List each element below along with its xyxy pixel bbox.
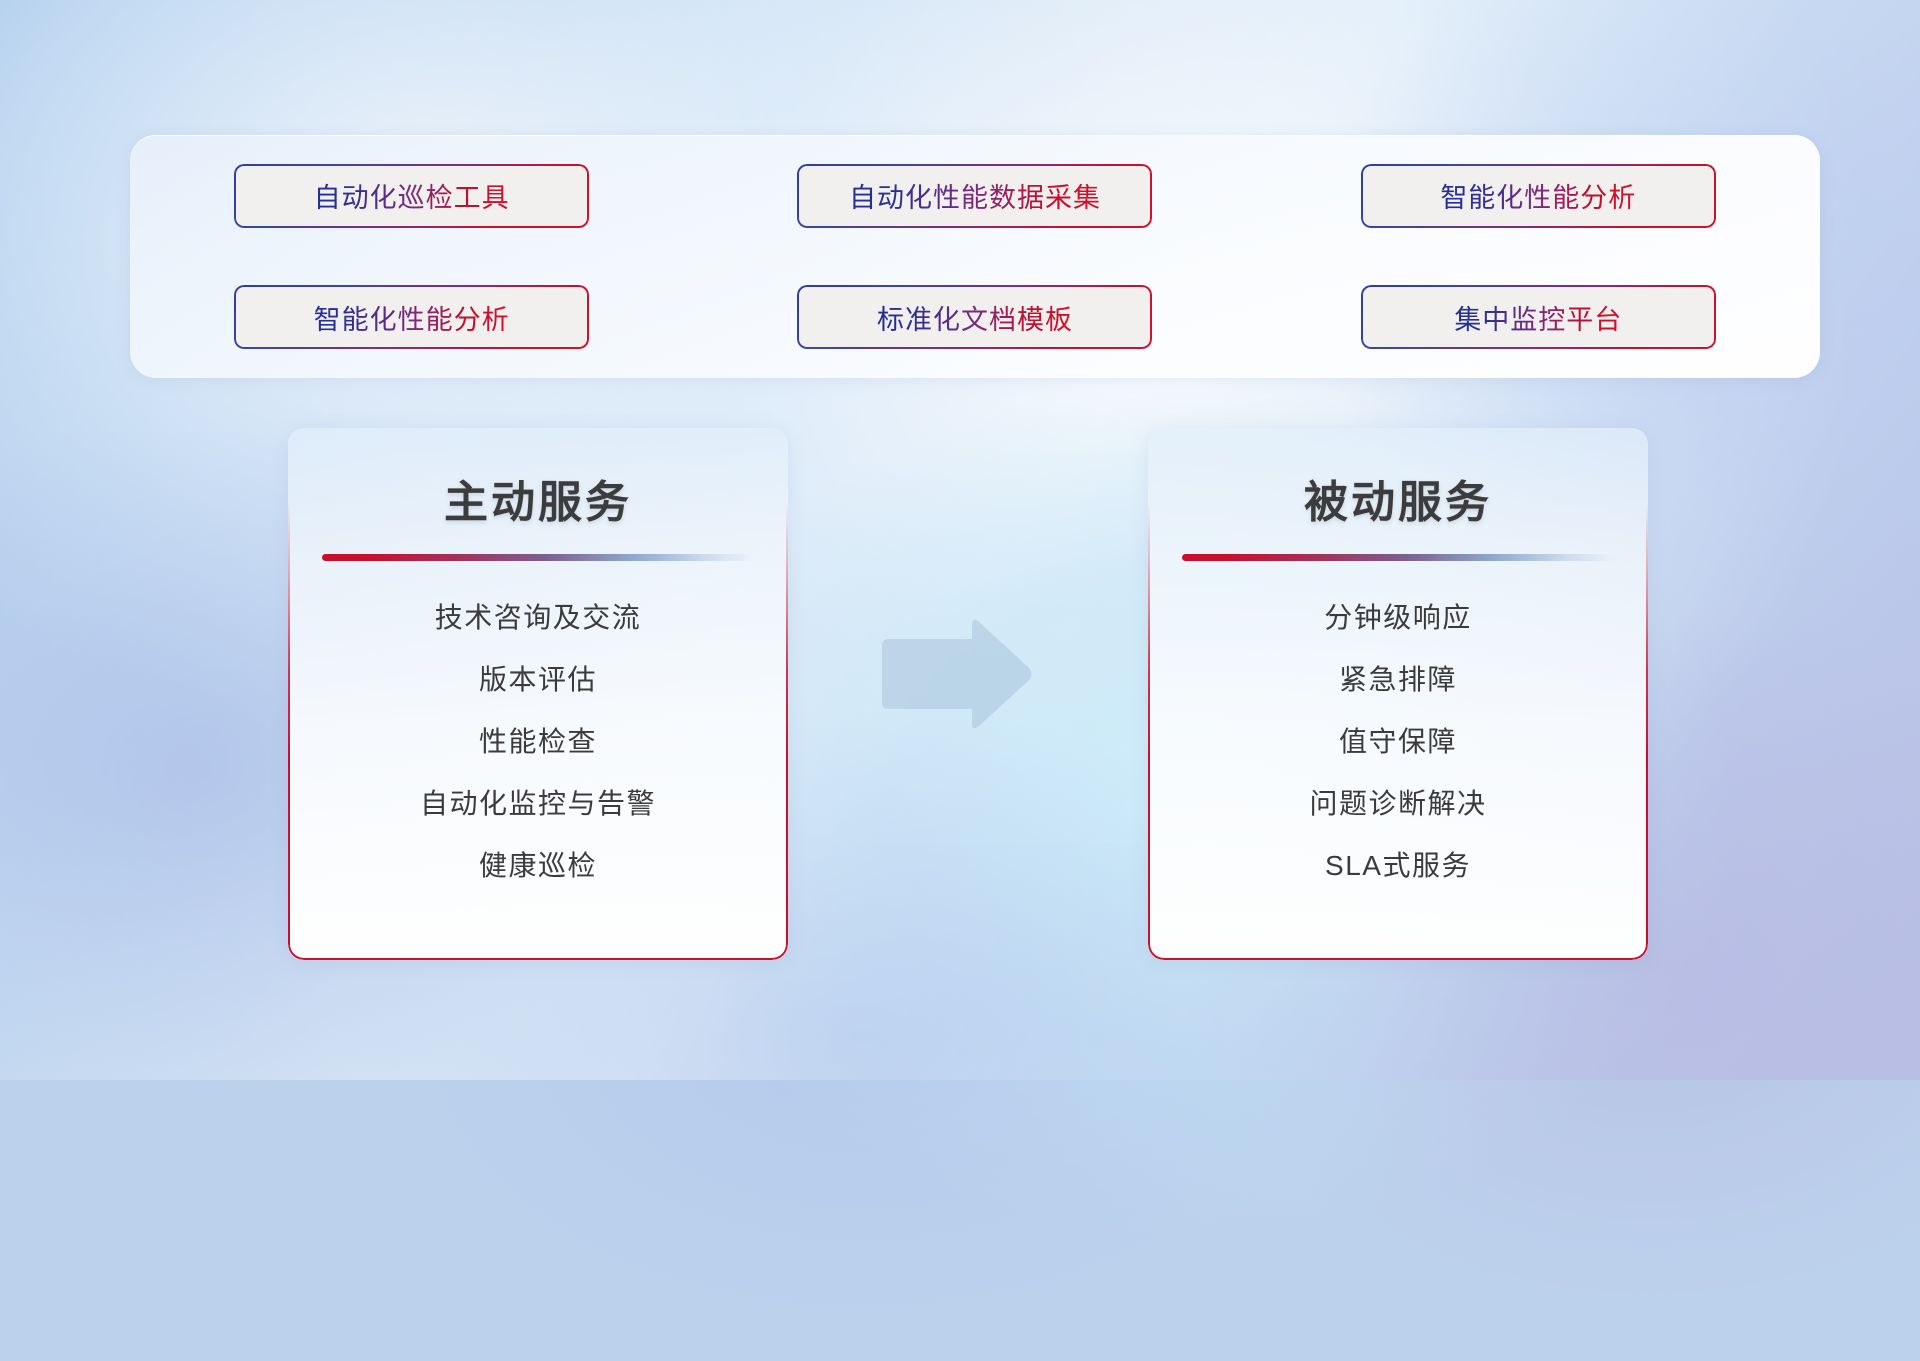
list-item: 健康巡检 (479, 835, 597, 897)
capability-tag-label: 自动化巡检工具 (314, 176, 510, 215)
capability-tag-label: 自动化性能数据采集 (849, 176, 1101, 215)
capability-tag-label: 集中监控平台 (1454, 298, 1622, 337)
capability-tag-grid: 自动化巡检工具 自动化性能数据采集 智能化性能分析 智能化性能分析 标准化文档模… (130, 135, 1820, 378)
title-underline-rule (1182, 554, 1614, 561)
capability-tag[interactable]: 智能化性能分析 (1361, 164, 1716, 228)
capability-tag[interactable]: 自动化性能数据采集 (797, 164, 1152, 228)
reactive-service-list: 分钟级响应 紧急排障 值守保障 问题诊断解决 SLA式服务 (1148, 587, 1648, 897)
reactive-service-card: 被动服务 分钟级响应 紧急排障 值守保障 问题诊断解决 SLA式服务 (1148, 428, 1648, 960)
capability-tag-label: 智能化性能分析 (314, 298, 510, 337)
reactive-card-title: 被动服务 (1304, 466, 1492, 530)
capability-tag-label: 智能化性能分析 (1440, 176, 1636, 215)
list-item: SLA式服务 (1325, 835, 1471, 897)
capability-tag[interactable]: 集中监控平台 (1361, 285, 1716, 349)
reactive-card-content: 被动服务 分钟级响应 紧急排障 值守保障 问题诊断解决 SLA式服务 (1148, 428, 1648, 960)
capability-panel: 自动化巡检工具 自动化性能数据采集 智能化性能分析 智能化性能分析 标准化文档模… (130, 135, 1820, 378)
capability-tag[interactable]: 标准化文档模板 (797, 285, 1152, 349)
list-item: 版本评估 (479, 649, 597, 711)
list-item: 分钟级响应 (1324, 587, 1472, 649)
list-item: 问题诊断解决 (1309, 773, 1486, 835)
capability-tag-label: 标准化文档模板 (877, 298, 1073, 337)
arrow-right-icon (876, 614, 1036, 734)
proactive-card-content: 主动服务 技术咨询及交流 版本评估 性能检查 自动化监控与告警 健康巡检 (288, 428, 788, 960)
list-item: 值守保障 (1339, 711, 1457, 773)
title-underline-rule (322, 554, 754, 561)
proactive-service-list: 技术咨询及交流 版本评估 性能检查 自动化监控与告警 健康巡检 (288, 587, 788, 897)
capability-tag[interactable]: 自动化巡检工具 (234, 164, 589, 228)
proactive-service-card: 主动服务 技术咨询及交流 版本评估 性能检查 自动化监控与告警 健康巡检 (288, 428, 788, 960)
proactive-card-title: 主动服务 (444, 466, 632, 530)
list-item: 紧急排障 (1339, 649, 1457, 711)
capability-tag[interactable]: 智能化性能分析 (234, 285, 589, 349)
list-item: 性能检查 (479, 711, 597, 773)
list-item: 技术咨询及交流 (435, 587, 642, 649)
list-item: 自动化监控与告警 (420, 773, 656, 835)
